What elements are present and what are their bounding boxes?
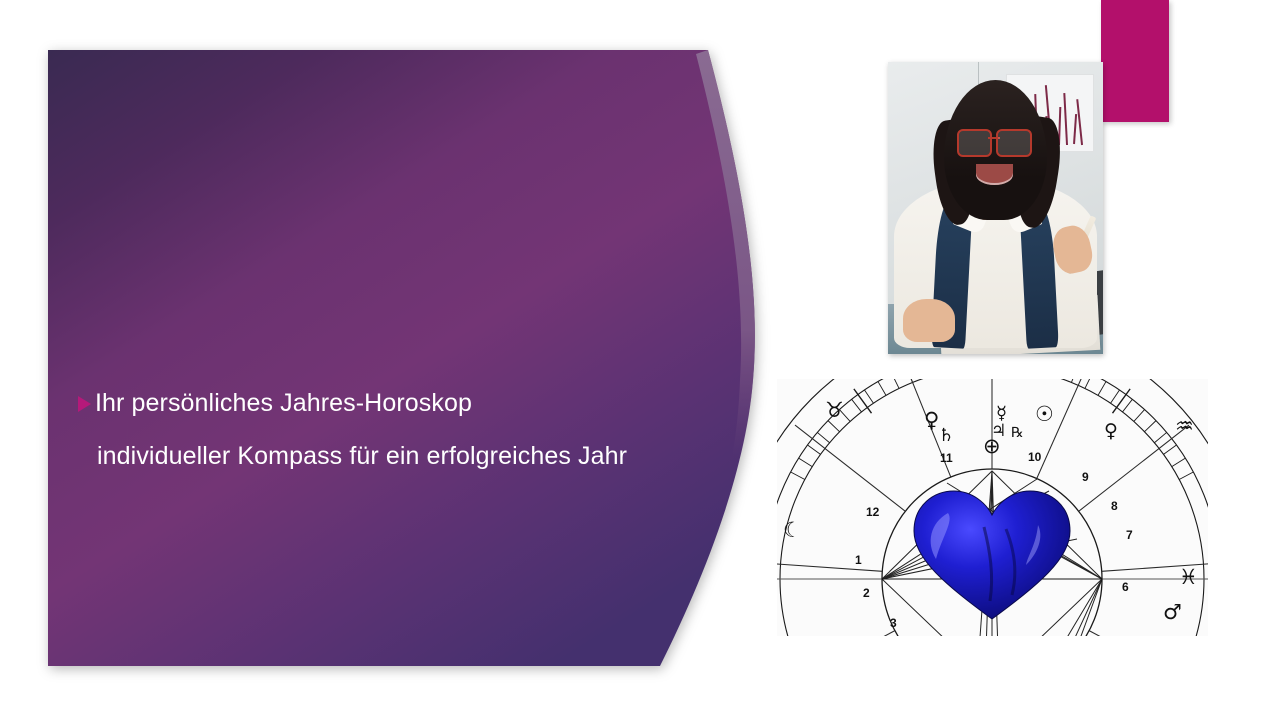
house-10: 10 [1028,450,1042,464]
bullet-line-2-label: individueller Kompass für ein erfolgreic… [97,439,627,473]
house-12: 12 [866,505,880,519]
purple-curved-panel [48,50,760,666]
moon-glyph: ☾ [783,518,802,542]
earth-glyph: ⊕ [983,434,1001,458]
house-9: 9 [1082,470,1089,484]
retrograde-glyph: ℞ [1011,425,1024,441]
horoscope-chart-graphic: 11 10 9 8 7 6 12 1 2 3 ♉ ♀ ♄ ☿ ♃ [777,379,1208,636]
portrait-eyeglasses [957,129,1032,152]
panel-shape [48,50,760,666]
portrait-photo-woman-at-desk [888,62,1103,354]
house-8: 8 [1111,499,1118,513]
house-2: 2 [863,586,870,600]
house-1: 1 [855,553,862,567]
portrait-hand-left [903,299,955,343]
pisces-glyph: ♓ [1179,565,1198,589]
house-11: 11 [940,451,953,465]
mars-glyph: ♂ [1163,600,1182,624]
house-6: 6 [1122,580,1129,594]
slide-body-text: Ihr persönliches Jahres-Horoskop individ… [78,386,738,473]
portrait-smile [976,164,1013,184]
aquarius-glyph: ♒ [1175,414,1194,438]
bullet-line-1-label: Ihr persönliches Jahres-Horoskop [95,386,472,420]
saturn-glyph: ♄ [938,425,954,446]
horoscope-chart-with-blue-heart: 11 10 9 8 7 6 12 1 2 3 ♉ ♀ ♄ ☿ ♃ [777,379,1208,636]
magenta-accent-block [1101,0,1169,122]
taurus-glyph: ♉ [825,398,844,422]
triangle-right-icon [78,396,91,412]
house-3: 3 [890,616,897,630]
house-7: 7 [1126,528,1133,542]
venus-2-glyph: ♀ [1104,420,1118,442]
sun-glyph: ☉ [1035,402,1054,426]
bullet-line-1: Ihr persönliches Jahres-Horoskop [78,386,738,420]
slide-canvas: Ihr persönliches Jahres-Horoskop individ… [0,0,1280,720]
bullet-line-2: individueller Kompass für ein erfolgreic… [78,439,738,473]
